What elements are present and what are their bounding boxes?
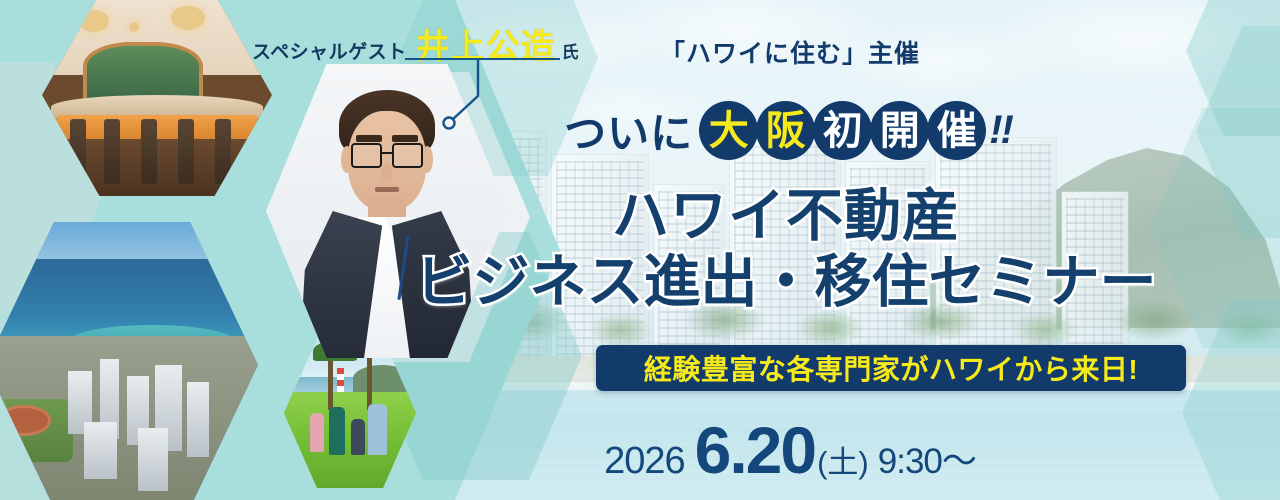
announce-exclamation: !! [989, 108, 1012, 153]
event-month-day: 6.20 [695, 412, 815, 488]
circled-char-sai: 催 [927, 101, 986, 160]
first-osaka-announcement: ついに 大 阪 初 開 催 !! [0, 100, 1280, 161]
subtitle-banner: 経験豊富な各専門家がハワイから来日! [596, 345, 1186, 391]
seminar-promo-banner: スペシャルゲスト 井上公造 氏 「ハワイに住む」主催 ついに 大 阪 初 開 催… [0, 0, 1280, 500]
circled-char-hatsu: 初 [813, 101, 872, 160]
event-weekday: (土) [817, 437, 869, 482]
seminar-title: ハワイ不動産 ビジネス進出・移住セミナー [0, 186, 1280, 313]
circled-char-kai: 開 [870, 101, 929, 160]
host-organizer-line: 「ハワイに住む」主催 [0, 34, 1280, 70]
event-start-time: 9:30〜 [878, 433, 976, 484]
event-date-row: 2026 6.20 (土) 9:30〜 [0, 412, 1280, 488]
announce-prefix: ついに [564, 100, 693, 161]
subtitle-banner-text: 経験豊富な各専門家がハワイから来日! [644, 348, 1138, 388]
circled-char-dai: 大 [699, 101, 758, 160]
title-line-1: ハワイ不動産 [292, 186, 1280, 248]
event-year: 2026 [604, 440, 685, 483]
circled-char-saka: 阪 [756, 101, 815, 160]
title-line-2: ビジネス進出・移住セミナー [292, 252, 1280, 314]
